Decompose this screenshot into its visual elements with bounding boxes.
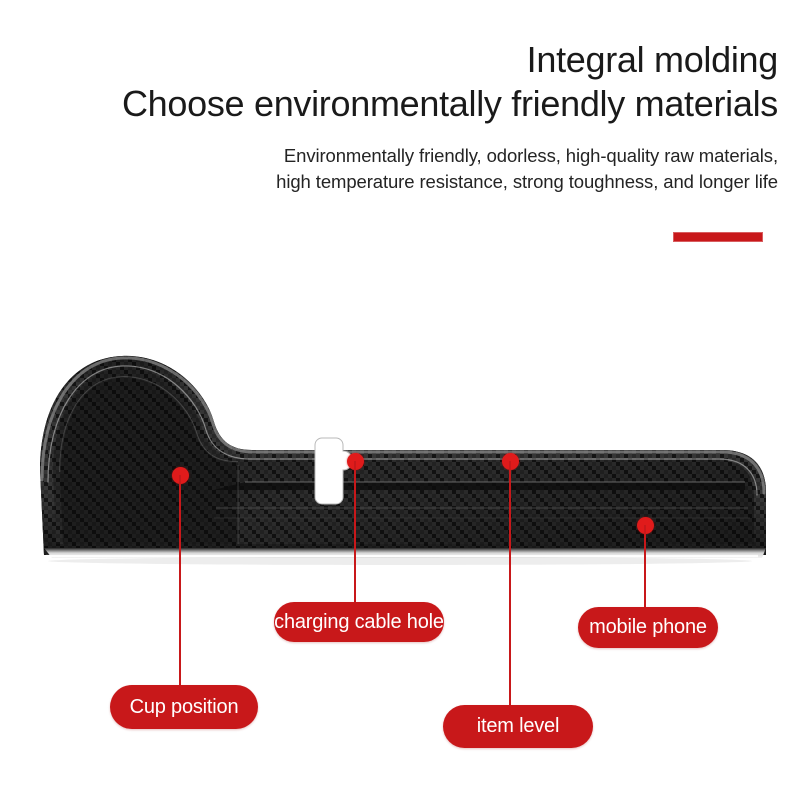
callout-line-cup-position [179,475,181,687]
callout-label-item-level: item level [477,715,559,738]
callout-pill-cup-position[interactable]: Cup position [110,685,258,729]
callout-label-charging-cable-hole: charging cable hole [274,611,444,634]
product-photo [0,330,800,570]
headline-primary: Integral molding [527,38,778,82]
callout-label-mobile-phone: mobile phone [589,616,707,639]
callout-pill-mobile-phone[interactable]: mobile phone [578,607,718,648]
callout-pill-charging-cable-hole[interactable]: charging cable hole [274,602,444,642]
header-block: Integral molding Choose environmentally … [0,0,800,260]
accent-rule-bar [673,232,763,242]
callout-pill-item-level[interactable]: item level [443,705,593,748]
shelf-ledge [214,482,745,490]
callout-label-cup-position: Cup position [130,696,239,719]
headline-secondary: Choose environmentally friendly material… [122,82,778,126]
callout-line-charging-cable-hole [354,461,356,606]
product-illustration [0,330,800,570]
callout-line-mobile-phone [644,525,646,611]
callout-line-item-level [509,461,511,709]
product-shadow [48,557,752,565]
subhead-line-2: high temperature resistance, strong toug… [276,169,778,195]
subhead-line-1: Environmentally friendly, odorless, high… [284,143,778,169]
